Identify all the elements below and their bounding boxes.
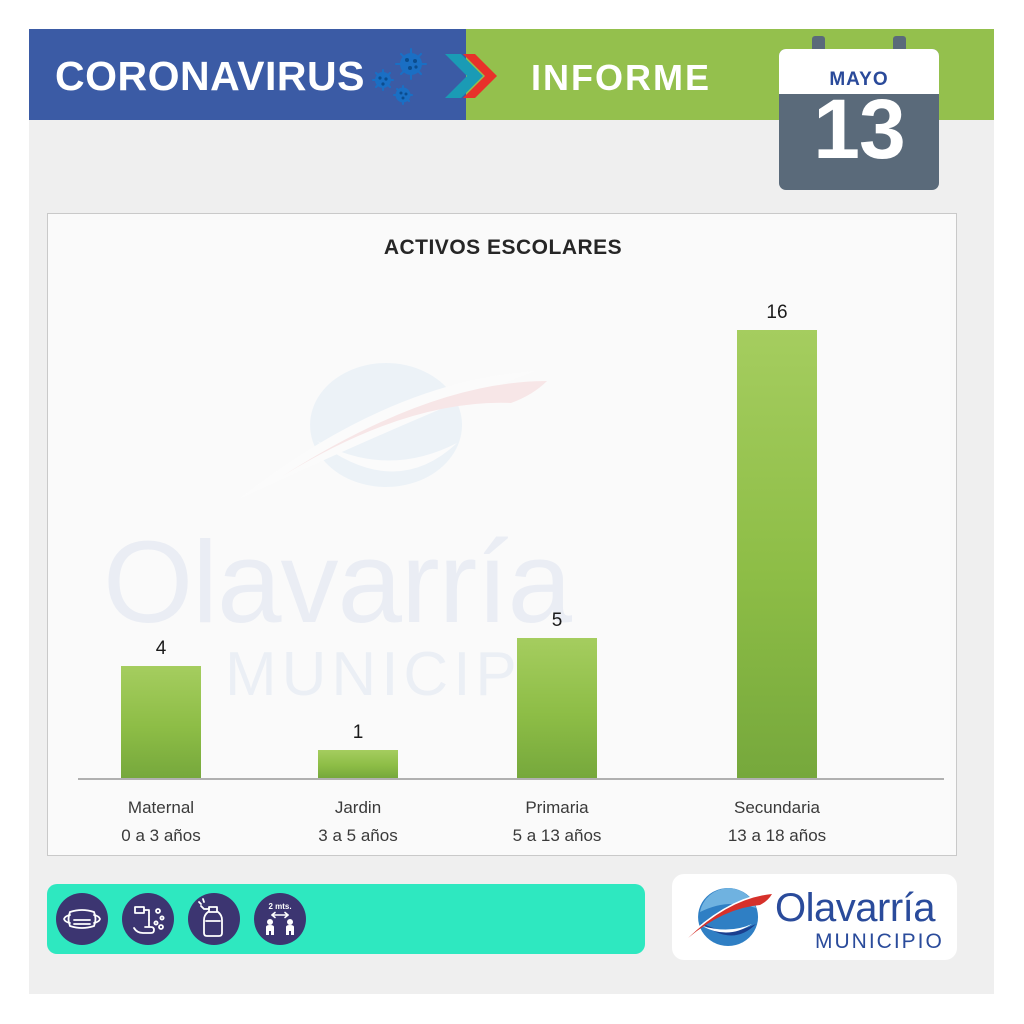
- social-distancing-icon: 2 mts.: [254, 893, 306, 945]
- handwashing-icon: [122, 893, 174, 945]
- calendar-body: MAYO 13: [779, 49, 939, 190]
- bar-maternal: [121, 666, 201, 778]
- calendar-icon: MAYO 13: [779, 36, 939, 190]
- tick-label-jardin: Jardin 3 a 5 años: [248, 794, 468, 850]
- x-axis-line: [78, 778, 944, 780]
- poster-root: CORONAVIRUS: [0, 0, 1024, 1024]
- tick-label-jardin-range: 3 a 5 años: [248, 822, 468, 850]
- sanitizer-spray-icon: [188, 893, 240, 945]
- logo-sub: MUNICIPIO: [815, 930, 944, 954]
- bar-value-maternal: 4: [101, 638, 221, 660]
- face-mask-icon: [56, 893, 108, 945]
- bar-primaria: [517, 638, 597, 778]
- tick-label-primaria-name: Primaria: [447, 794, 667, 822]
- bar-value-primaria: 5: [497, 610, 617, 632]
- tick-label-primaria: Primaria 5 a 13 años: [447, 794, 667, 850]
- virus-particles-icon: [369, 47, 435, 107]
- tick-label-secundaria: Secundaria 13 a 18 años: [667, 794, 887, 850]
- bar-secundaria: [737, 330, 817, 778]
- tick-label-maternal-range: 0 a 3 años: [51, 822, 271, 850]
- content-card: CORONAVIRUS: [29, 29, 994, 994]
- bar-value-jardin: 1: [298, 722, 418, 744]
- footer: 2 mts.: [47, 874, 957, 960]
- report-label: INFORME: [531, 57, 711, 99]
- measure-item-distancing: 2 mts.: [254, 893, 306, 945]
- brand-title: CORONAVIRUS: [55, 53, 365, 100]
- plot-area: 4 Maternal 0 a 3 años 1 Jardin 3 a 5 año…: [48, 214, 957, 856]
- measure-item-mask: [56, 893, 108, 945]
- tick-label-maternal-name: Maternal: [51, 794, 271, 822]
- tick-label-jardin-name: Jardin: [248, 794, 468, 822]
- olavarria-swoosh-logo-icon: [680, 882, 776, 952]
- tick-label-secundaria-range: 13 a 18 años: [667, 822, 887, 850]
- tick-label-secundaria-name: Secundaria: [667, 794, 887, 822]
- municipality-logo-card: Olavarría MUNICIPIO: [672, 874, 957, 960]
- prevention-measures-bar: 2 mts.: [47, 884, 645, 954]
- tick-label-primaria-range: 5 a 13 años: [447, 822, 667, 850]
- chart-panel: ACTIVOS ESCOLARES Olavarría MUNICIPIO 4: [47, 213, 957, 856]
- logo-name: Olavarría: [775, 886, 935, 931]
- calendar-day: 13: [779, 87, 939, 171]
- double-chevron-icon: [437, 50, 499, 102]
- measure-item-sanitizer: [188, 893, 240, 945]
- tick-label-maternal: Maternal 0 a 3 años: [51, 794, 271, 850]
- distancing-label: 2 mts.: [268, 902, 291, 911]
- measure-item-handwashing: [122, 893, 174, 945]
- bar-value-secundaria: 16: [717, 302, 837, 324]
- bar-jardin: [318, 750, 398, 778]
